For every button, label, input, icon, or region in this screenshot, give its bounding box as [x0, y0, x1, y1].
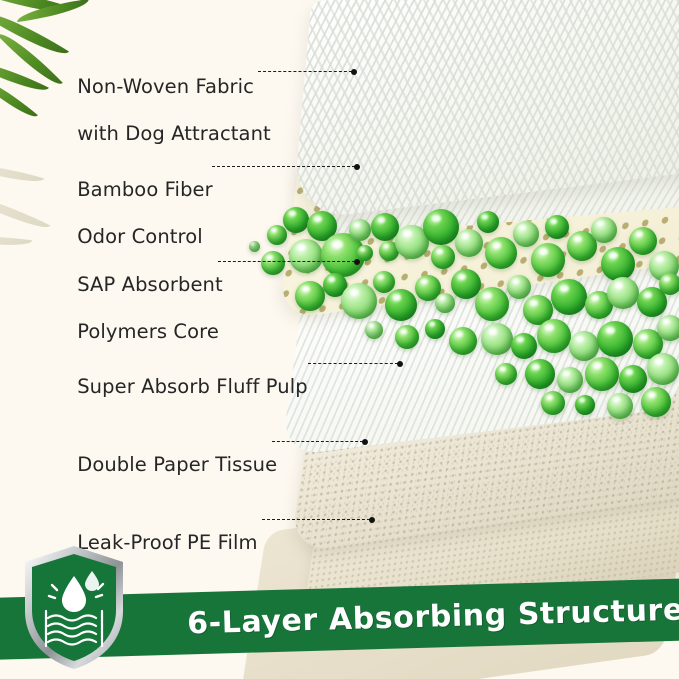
- label-fluff-pulp-line1: Super Absorb Fluff Pulp: [77, 375, 308, 398]
- label-sap-core-line1: SAP Absorbent: [77, 273, 223, 296]
- label-paper-tissue-line1: Double Paper Tissue: [77, 453, 277, 476]
- label-fluff-pulp: Super Absorb Fluff Pulp: [52, 351, 308, 422]
- label-bamboo-fiber-line2: Odor Control: [77, 225, 203, 248]
- water-drop-shield-icon: [22, 543, 126, 671]
- label-non-woven: Non-Woven Fabric with Dog Attractant: [52, 51, 271, 169]
- sap-polymer-beads-cluster: [245, 195, 679, 435]
- leader-line-fluff-pulp: [308, 363, 398, 365]
- label-non-woven-line2: with Dog Attractant: [77, 122, 271, 145]
- label-sap-core-line2: Polymers Core: [77, 320, 219, 343]
- label-paper-tissue: Double Paper Tissue: [52, 429, 277, 500]
- label-bamboo-fiber-line1: Bamboo Fiber: [77, 178, 213, 201]
- leader-line-pe-film: [262, 519, 370, 521]
- label-non-woven-line1: Non-Woven Fabric: [77, 75, 254, 98]
- leader-line-paper-tissue: [272, 441, 363, 443]
- leader-line-sap-core: [218, 261, 355, 263]
- leader-line-non-woven: [258, 71, 352, 73]
- label-sap-core: SAP Absorbent Polymers Core: [52, 249, 223, 367]
- infographic-canvas: Non-Woven Fabric with Dog Attractant Bam…: [0, 0, 679, 679]
- leader-line-bamboo-fiber: [212, 166, 355, 168]
